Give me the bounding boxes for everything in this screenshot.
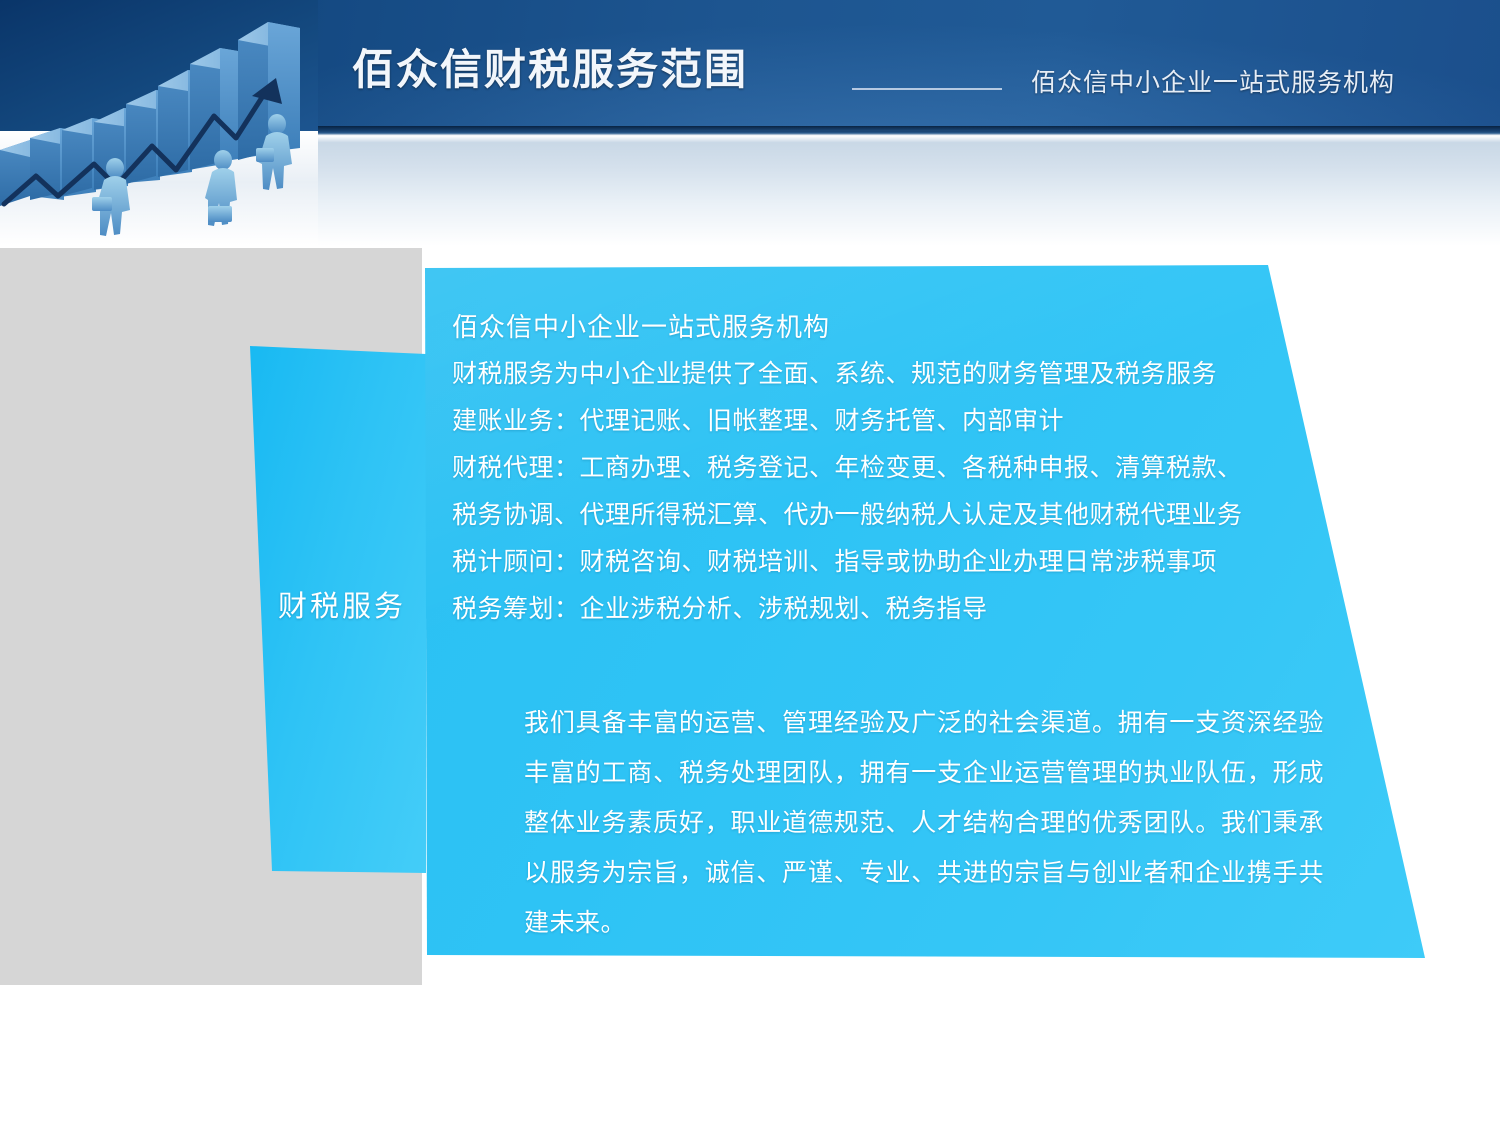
service-line-3: 税务协调、代理所得税汇算、代办一般纳税人认定及其他财税代理业务 [452,491,1352,538]
service-line-1: 建账业务：代理记账、旧帐整理、财务托管、内部审计 [452,397,1352,444]
about-paragraph: 我们具备丰富的运营、管理经验及广泛的社会渠道。拥有一支资深经验丰富的工商、税务处… [524,698,1324,948]
growth-bar-chart-icon [0,0,318,245]
service-line-2: 财税代理：工商办理、税务登记、年检变更、各税种申报、清算税款、 [452,444,1352,491]
service-content: 佰众信中小企业一站式服务机构 财税服务为中小企业提供了全面、系统、规范的财务管理… [452,306,1352,632]
side-tab-label: 财税服务 [248,343,428,875]
service-line-5: 税务筹划：企业涉税分析、涉税规划、税务指导 [452,585,1352,632]
page-subtitle: 佰众信中小企业一站式服务机构 [1031,70,1395,95]
side-tab-financial-service[interactable]: 财税服务 [248,343,428,875]
service-line-4: 税计顾问：财税咨询、财税培训、指导或协助企业办理日常涉税事项 [452,538,1352,585]
content-heading: 佰众信中小企业一站式服务机构 [452,306,1352,350]
title-divider-line [852,88,1002,90]
about-section: 我们具备丰富的运营、管理经验及广泛的社会渠道。拥有一支资深经验丰富的工商、税务处… [524,698,1324,948]
service-line-0: 财税服务为中小企业提供了全面、系统、规范的财务管理及税务服务 [452,350,1352,397]
page-title: 佰众信财税服务范围 [352,49,748,91]
